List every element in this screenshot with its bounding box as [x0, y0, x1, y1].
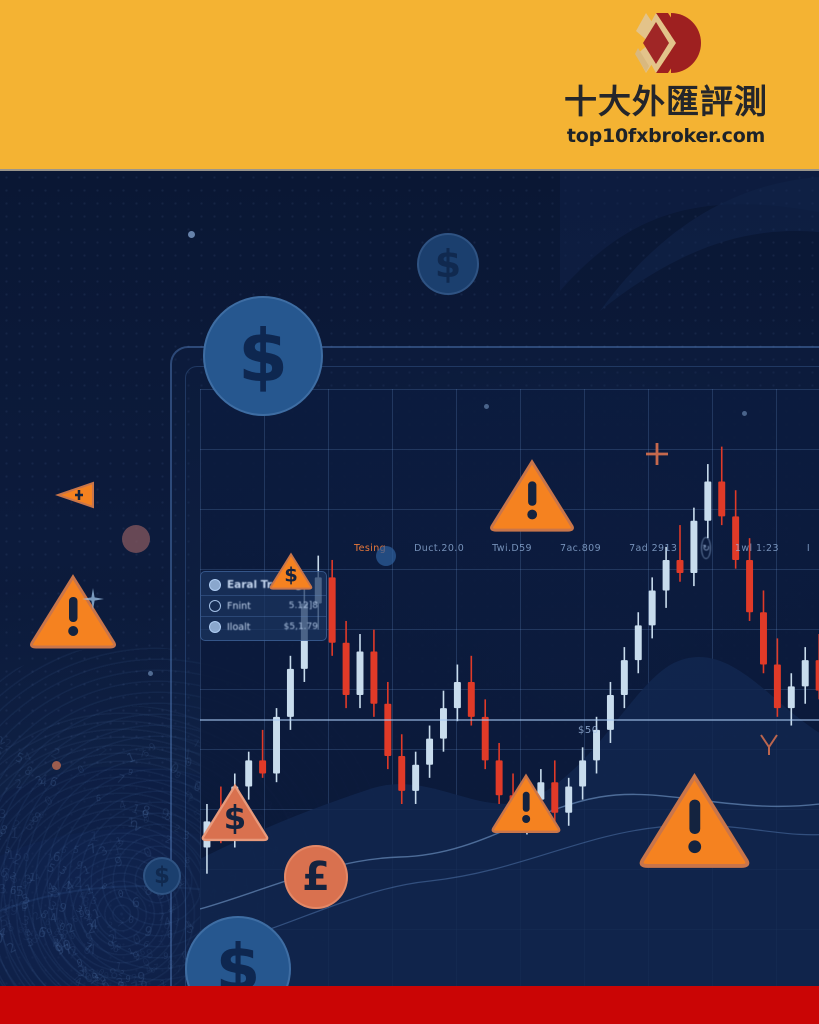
blue-dot-center [376, 546, 396, 566]
svg-text:$: $ [284, 564, 298, 587]
digit-glyph: 2 [116, 837, 125, 852]
candle-body [357, 651, 364, 695]
header-band: 十大外匯評測 top10fxbroker.com [0, 0, 819, 171]
digit-glyph: 0 [127, 914, 134, 926]
candle-body [398, 756, 405, 791]
warning-triangle-dollar-small: $ [269, 551, 313, 591]
svg-text:$: $ [224, 799, 247, 837]
sparkle-plus-left [80, 586, 106, 617]
candle-body [774, 665, 781, 709]
info-row-2[interactable]: Iloalt $5,1.79 [201, 617, 326, 637]
pound-coin: £ [284, 845, 348, 909]
price-level-line [200, 719, 819, 721]
candle-body [273, 717, 280, 774]
candle-body [329, 577, 336, 642]
digit-glyph: 0 [0, 931, 3, 947]
digit-glyph: 9 [115, 942, 121, 953]
arrow-marker-lower-right [758, 731, 780, 762]
price-level-label: $50 [578, 725, 599, 736]
warning-triangle-right-large [637, 769, 752, 871]
candle-body [440, 708, 447, 739]
tiny-dot-top [188, 231, 195, 238]
dollar-coin-large: $ [203, 296, 323, 416]
digit-glyph: 0 [141, 807, 149, 821]
candle-body [287, 669, 294, 717]
candle-body [454, 682, 461, 708]
candle-body [607, 695, 614, 730]
candle-body [468, 682, 475, 717]
candle-body [635, 625, 642, 660]
candle-body [802, 660, 809, 686]
info-row-2-label: Iloalt [227, 622, 278, 633]
warning-triangle-dollar-bottom: $ [200, 781, 270, 843]
chart-tab-bar[interactable]: Tesing Duct.20.0 Twi.D59 7ac.809 7ad 291… [340, 534, 819, 562]
dollar-coin-small-left: $ [143, 857, 181, 895]
candle-body [370, 651, 377, 703]
digit-glyph: 3 [0, 807, 6, 821]
tiny-dot-plot-right [742, 411, 747, 416]
candle-body [426, 739, 433, 765]
brand-block: 十大外匯評測 top10fxbroker.com [561, 8, 771, 148]
candle-body [816, 660, 819, 691]
candle-body [343, 643, 350, 695]
digit-glyph: 1 [90, 830, 98, 845]
tab-7[interactable]: I [793, 543, 819, 554]
plus-marker-right [644, 441, 670, 472]
warning-arrow-small-left [55, 479, 95, 511]
candle-body [259, 760, 266, 773]
info-row-1[interactable]: Fnint 5.12]8 [201, 596, 326, 617]
illustration-canvas: 8884389244314125949724202223080238944620… [0, 171, 819, 986]
info-row-1-value: 5.12]8 [289, 601, 318, 611]
circle-icon [209, 600, 221, 612]
brand-logo-icon [616, 8, 716, 78]
tab-2[interactable]: Twi.D59 [478, 543, 546, 554]
drop-icon [209, 579, 221, 591]
dollar-coin-top: $ [417, 233, 479, 295]
footer-band [0, 986, 819, 1024]
candle-body [788, 686, 795, 708]
poster-root: 十大外匯評測 top10fxbroker.com 888438924431412… [0, 0, 819, 1024]
digit-glyph: 4 [79, 891, 85, 902]
tab-1[interactable]: Duct.20.0 [400, 543, 478, 554]
tiny-dot-plot [484, 404, 489, 409]
candle-body [746, 560, 753, 612]
candle-body [579, 760, 586, 786]
tab-3[interactable]: 7ac.809 [546, 543, 615, 554]
warning-triangle-center-top [488, 456, 576, 534]
candle-body [565, 787, 572, 813]
digit-glyph: 6 [132, 896, 140, 911]
digit-glyph: 1 [127, 816, 136, 831]
rose-dot-left [122, 525, 150, 553]
candle-body [718, 482, 725, 517]
brand-url: top10fxbroker.com [561, 124, 771, 148]
digit-glyph: 7 [157, 910, 165, 924]
refresh-icon[interactable]: ↻ [701, 537, 711, 559]
digit-glyph: 6 [96, 794, 102, 804]
warning-triangle-center-bottom [490, 771, 562, 835]
candle-body [482, 717, 489, 761]
tiny-dot-mid [148, 671, 153, 676]
candle-body [621, 660, 628, 695]
tab-4[interactable]: 7ad 2913 [615, 543, 691, 554]
brand-chinese-title: 十大外匯評測 [561, 82, 771, 122]
digit-glyph: 5 [16, 884, 24, 900]
candle-body [704, 482, 711, 521]
candle-body [760, 612, 767, 664]
candle-body [649, 590, 656, 625]
digit-glyph: 6 [39, 811, 44, 821]
candle-body [412, 765, 419, 791]
tab-6[interactable]: 1wl 1:23 [721, 543, 793, 554]
clock-icon [209, 621, 221, 633]
tiny-dot-left [52, 761, 61, 770]
info-row-2-value: $5,1.79 [284, 622, 318, 632]
candle-body [663, 560, 670, 591]
candle-body [384, 704, 391, 756]
info-row-1-label: Fnint [227, 601, 283, 612]
